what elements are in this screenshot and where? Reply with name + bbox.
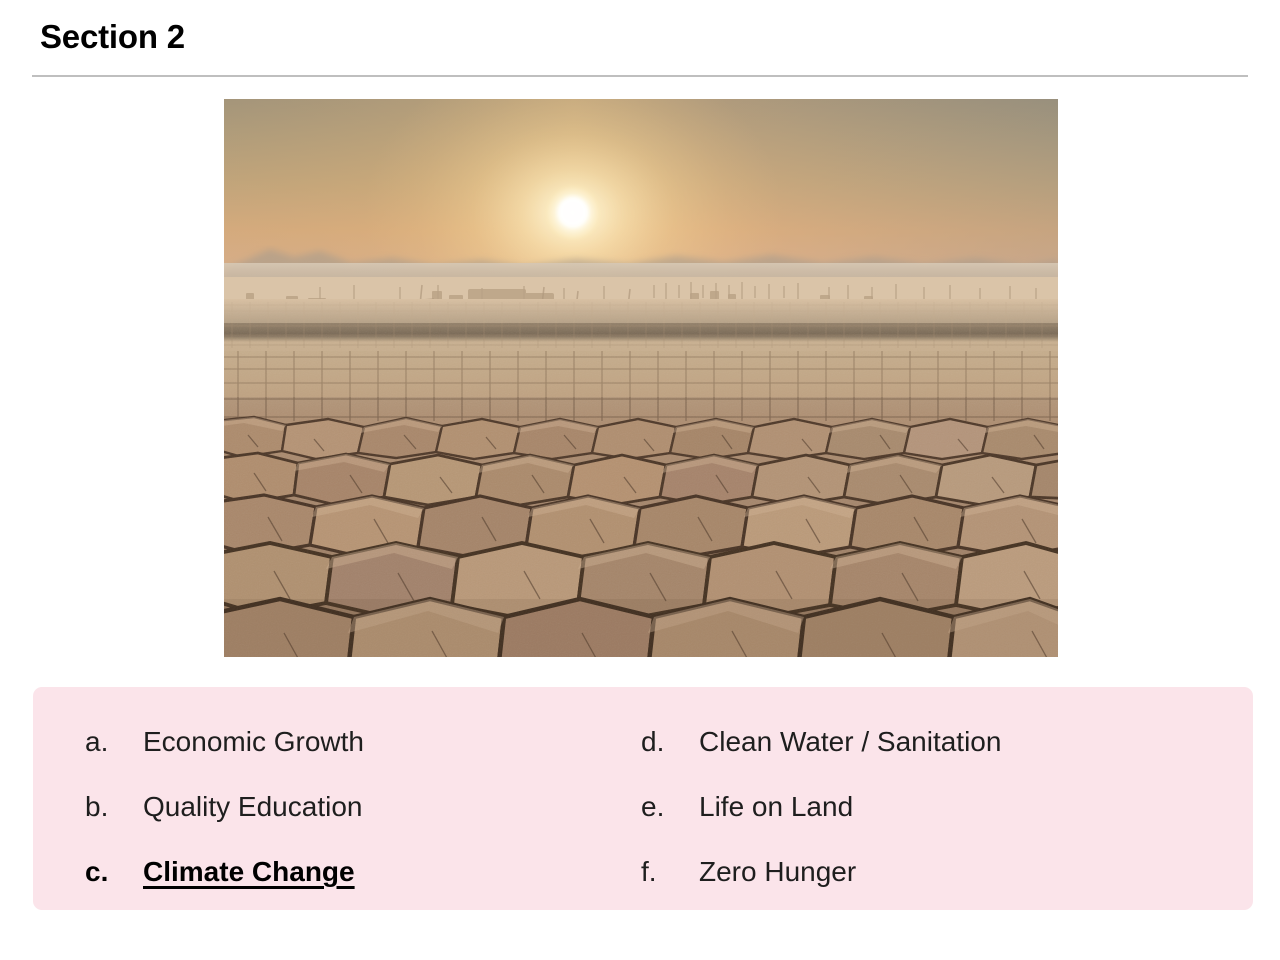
option-f[interactable]: f. Zero Hunger [641, 839, 1241, 904]
option-b-letter: b. [85, 774, 143, 839]
option-f-letter: f. [641, 839, 699, 904]
option-e-label: Life on Land [699, 774, 853, 839]
option-d-letter: d. [641, 709, 699, 774]
page-header: Section 2 [0, 0, 1280, 78]
option-c-letter: c. [85, 839, 143, 904]
options-right-column: d. Clean Water / Sanitation e. Life on L… [641, 709, 1241, 904]
option-a-letter: a. [85, 709, 143, 774]
drought-cracked-earth-illustration [224, 99, 1058, 657]
option-c-selected[interactable]: c. Climate Change [85, 839, 645, 904]
option-b-label: Quality Education [143, 774, 362, 839]
option-c-label: Climate Change [143, 839, 355, 904]
option-e-letter: e. [641, 774, 699, 839]
options-left-column: a. Economic Growth b. Quality Education … [85, 709, 645, 904]
page-title: Section 2 [40, 16, 185, 58]
option-d-label: Clean Water / Sanitation [699, 709, 1001, 774]
option-f-label: Zero Hunger [699, 839, 856, 904]
option-a-label: Economic Growth [143, 709, 364, 774]
option-b[interactable]: b. Quality Education [85, 774, 645, 839]
header-divider [32, 75, 1248, 77]
option-d[interactable]: d. Clean Water / Sanitation [641, 709, 1241, 774]
option-a[interactable]: a. Economic Growth [85, 709, 645, 774]
answer-options-panel: a. Economic Growth b. Quality Education … [33, 687, 1253, 910]
drought-image [224, 99, 1058, 657]
option-e[interactable]: e. Life on Land [641, 774, 1241, 839]
